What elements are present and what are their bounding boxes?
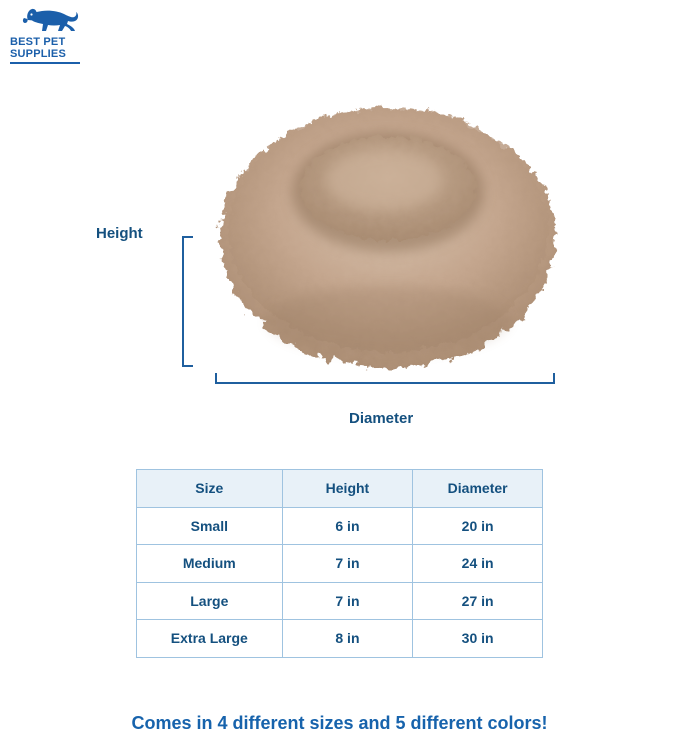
cell-height: 7 in bbox=[282, 582, 413, 620]
cell-diameter: 27 in bbox=[413, 582, 543, 620]
logo-line-1: BEST PET bbox=[10, 36, 65, 48]
column-header-height: Height bbox=[282, 470, 413, 508]
column-header-size: Size bbox=[137, 470, 283, 508]
cell-height: 6 in bbox=[282, 507, 413, 545]
diameter-label: Diameter bbox=[349, 410, 413, 427]
diameter-bracket bbox=[215, 373, 555, 384]
cell-height: 7 in bbox=[282, 545, 413, 583]
pet-bed-illustration bbox=[198, 80, 578, 380]
size-chart-table: Size Height Diameter Small 6 in 20 in Me… bbox=[136, 469, 543, 658]
column-header-diameter: Diameter bbox=[413, 470, 543, 508]
cell-diameter: 30 in bbox=[413, 620, 543, 658]
height-bracket bbox=[182, 236, 193, 367]
cell-size: Extra Large bbox=[137, 620, 283, 658]
cell-size: Small bbox=[137, 507, 283, 545]
logo-text: BEST PET SUPPLIES bbox=[10, 36, 66, 60]
cell-diameter: 24 in bbox=[413, 545, 543, 583]
height-label: Height bbox=[96, 225, 143, 242]
logo-underline bbox=[10, 62, 80, 64]
cell-size: Large bbox=[137, 582, 283, 620]
brand-logo: BEST PET SUPPLIES bbox=[8, 6, 94, 72]
product-diagram: Height Diameter bbox=[0, 70, 679, 440]
table-header-row: Size Height Diameter bbox=[137, 470, 543, 508]
cell-size: Medium bbox=[137, 545, 283, 583]
dog-icon bbox=[22, 6, 82, 36]
logo-line-2: SUPPLIES bbox=[10, 48, 66, 60]
cell-height: 8 in bbox=[282, 620, 413, 658]
table-row: Large 7 in 27 in bbox=[137, 582, 543, 620]
table-row: Extra Large 8 in 30 in bbox=[137, 620, 543, 658]
table-row: Small 6 in 20 in bbox=[137, 507, 543, 545]
cell-diameter: 20 in bbox=[413, 507, 543, 545]
footer-tagline: Comes in 4 different sizes and 5 differe… bbox=[0, 713, 679, 734]
table-row: Medium 7 in 24 in bbox=[137, 545, 543, 583]
